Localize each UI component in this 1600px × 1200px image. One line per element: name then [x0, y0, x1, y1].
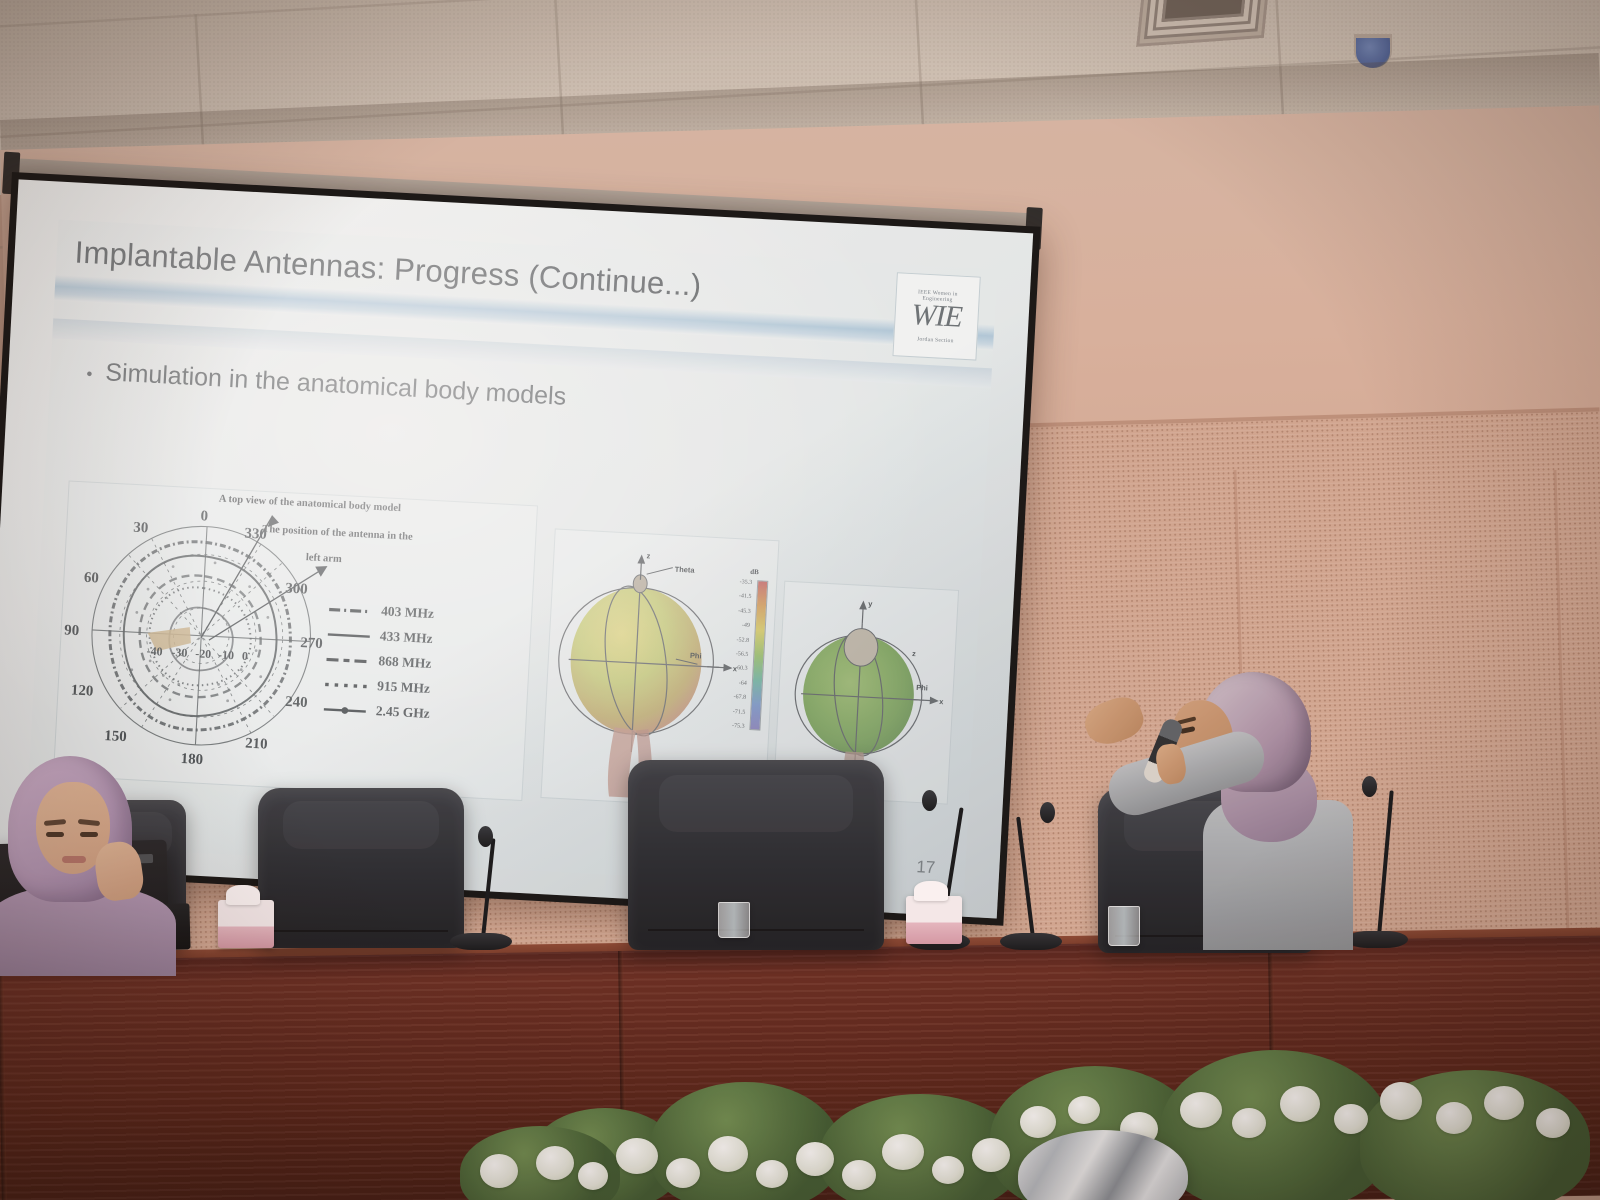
presenting-speaker [1095, 672, 1345, 942]
svg-text:30: 30 [133, 520, 149, 537]
colorbar-tick: -64 [739, 680, 747, 686]
ieee-wie-logo: IEEE Women in Engineering Jordan Section… [892, 272, 980, 360]
svg-text:270: 270 [300, 635, 323, 652]
svg-text:y: y [868, 599, 873, 608]
legend-item: 433 MHz [326, 625, 434, 647]
svg-text:-10: -10 [218, 648, 235, 663]
svg-text:-30: -30 [171, 645, 188, 660]
colorbar-tick: -75.3 [732, 723, 745, 730]
svg-text:z: z [646, 551, 650, 560]
svg-text:90: 90 [64, 622, 80, 639]
water-glass-2 [718, 902, 750, 938]
colorbar-tick: -45.3 [738, 608, 751, 615]
chair-2[interactable] [628, 760, 884, 950]
slide-bullet-text: Simulation in the anatomical body models [105, 358, 567, 412]
colorbar-tick: -41.5 [739, 594, 752, 601]
svg-text:x: x [939, 697, 944, 706]
colorbar-tick: -60.3 [735, 666, 748, 673]
svg-text:Phi: Phi [916, 683, 928, 693]
colorbar-tick: -67.8 [733, 694, 746, 701]
svg-text:0: 0 [242, 649, 249, 663]
floral-arrangement [520, 1030, 1600, 1200]
svg-text:z: z [912, 649, 916, 658]
legend-item: 868 MHz [325, 650, 433, 672]
logo-bottom-text: Jordan Section [900, 336, 970, 346]
svg-text:60: 60 [84, 570, 100, 587]
svg-text:Phi: Phi [690, 651, 702, 661]
colorbar-tick: -35.3 [740, 579, 753, 586]
svg-text:240: 240 [285, 694, 308, 711]
colorbar-tick: -52.8 [736, 637, 749, 644]
svg-text:Theta: Theta [674, 565, 695, 575]
legend-label: 868 MHz [378, 653, 432, 672]
colorbar-tick: -49 [742, 623, 750, 629]
svg-text:-20: -20 [195, 646, 212, 661]
legend-key-dotted-icon [324, 679, 368, 690]
tissue-box-1 [218, 900, 274, 948]
legend-key-line-marker-icon [323, 704, 367, 715]
colorbar-tick: -56.5 [736, 651, 749, 658]
polar-annotation-left-arm: left arm [306, 552, 342, 565]
svg-text:150: 150 [104, 728, 127, 745]
legend-label: 915 MHz [377, 678, 431, 697]
svg-text:300: 300 [285, 580, 308, 597]
legend-label: 403 MHz [381, 603, 435, 622]
legend-key-solid-icon [327, 629, 371, 640]
bullet-marker-icon: • [86, 365, 93, 382]
svg-text:0: 0 [200, 508, 208, 524]
legend-label: 433 MHz [379, 628, 433, 647]
gooseneck-mic-3[interactable] [996, 802, 1066, 950]
legend-label: 2.45 GHz [375, 703, 430, 722]
legend-key-dashed-icon [325, 654, 369, 665]
gooseneck-mic-1[interactable] [446, 826, 516, 950]
colorbar-tick: -71.5 [733, 709, 746, 716]
legend-item: 915 MHz [324, 675, 432, 697]
svg-text:120: 120 [71, 682, 94, 699]
polar-legend: 403 MHz 433 MHz [322, 600, 435, 722]
logo-top-text: IEEE Women in Engineering [902, 289, 973, 305]
chair-1[interactable] [258, 788, 464, 948]
seated-attendee [0, 756, 192, 956]
polar-radiation-pattern-figure: 0 30 60 90 120 150 180 210 240 270 300 [53, 480, 538, 801]
svg-text:210: 210 [245, 735, 268, 752]
colorbar-title: dB [750, 568, 759, 576]
conference-room-scene: Implantable Antennas: Progress (Continue… [0, 0, 1600, 1200]
legend-key-dash-dot-icon [328, 604, 372, 615]
svg-text:-40: -40 [146, 644, 163, 659]
tissue-box-2 [906, 896, 962, 944]
